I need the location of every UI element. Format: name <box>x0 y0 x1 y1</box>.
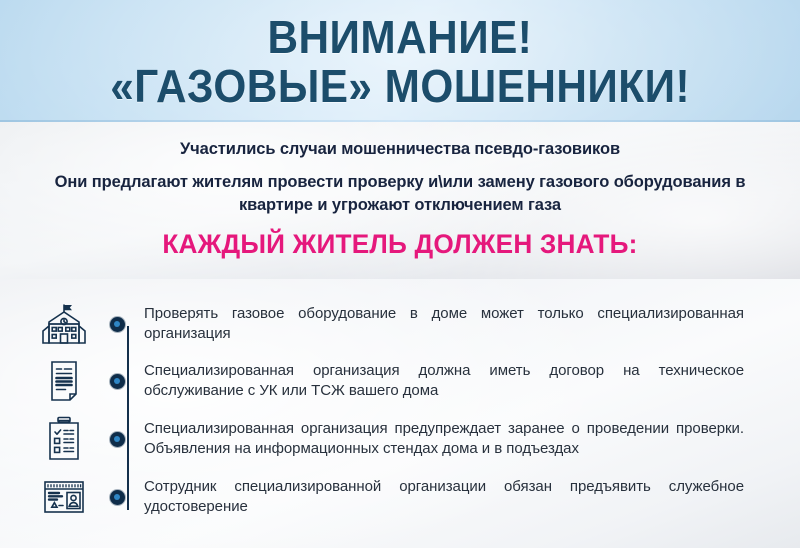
list-item: Сотрудник специализированной организации… <box>28 474 744 520</box>
clipboard-checklist-icon <box>28 415 100 463</box>
timeline-dot <box>100 490 134 505</box>
timeline-dot <box>100 374 134 389</box>
intro-paragraph-1: Участились случаи мошенничества псевдо-г… <box>180 140 620 160</box>
call-to-action-heading: КАЖДЫЙ ЖИТЕЛЬ ДОЛЖЕН ЗНАТЬ: <box>162 231 637 258</box>
timeline-dot <box>100 432 134 447</box>
list-item-text: Специализированная организация должна им… <box>134 361 744 401</box>
rules-list: Проверять газовое оборудование в доме мо… <box>28 301 744 520</box>
intro-paragraph-2: Они предлагают жителям провести проверку… <box>30 171 770 217</box>
list-item-text: Проверять газовое оборудование в доме мо… <box>134 304 744 344</box>
list-item: Специализированная организация должна им… <box>28 358 744 404</box>
document-contract-icon <box>28 358 100 404</box>
list-item: Специализированная организация предупреж… <box>28 415 744 463</box>
poster-root: ВНИМАНИЕ! «ГАЗОВЫЕ» МОШЕННИКИ! Участилис… <box>0 0 800 548</box>
header-title-line-1: ВНИМАНИЕ! <box>268 15 533 60</box>
list-item: Проверять газовое оборудование в доме мо… <box>28 301 744 347</box>
id-badge-icon <box>28 476 100 518</box>
list-item-text: Сотрудник специализированной организации… <box>134 477 744 517</box>
timeline-dot <box>100 317 134 332</box>
list-item-text: Специализированная организация предупреж… <box>134 419 744 459</box>
rules-section: Проверять газовое оборудование в доме мо… <box>0 279 800 548</box>
poster-header: ВНИМАНИЕ! «ГАЗОВЫЕ» МОШЕННИКИ! <box>0 0 800 122</box>
school-building-icon <box>28 301 100 347</box>
intro-section: Участились случаи мошенничества псевдо-г… <box>0 122 800 279</box>
header-title-line-2: «ГАЗОВЫЕ» МОШЕННИКИ! <box>110 64 690 109</box>
